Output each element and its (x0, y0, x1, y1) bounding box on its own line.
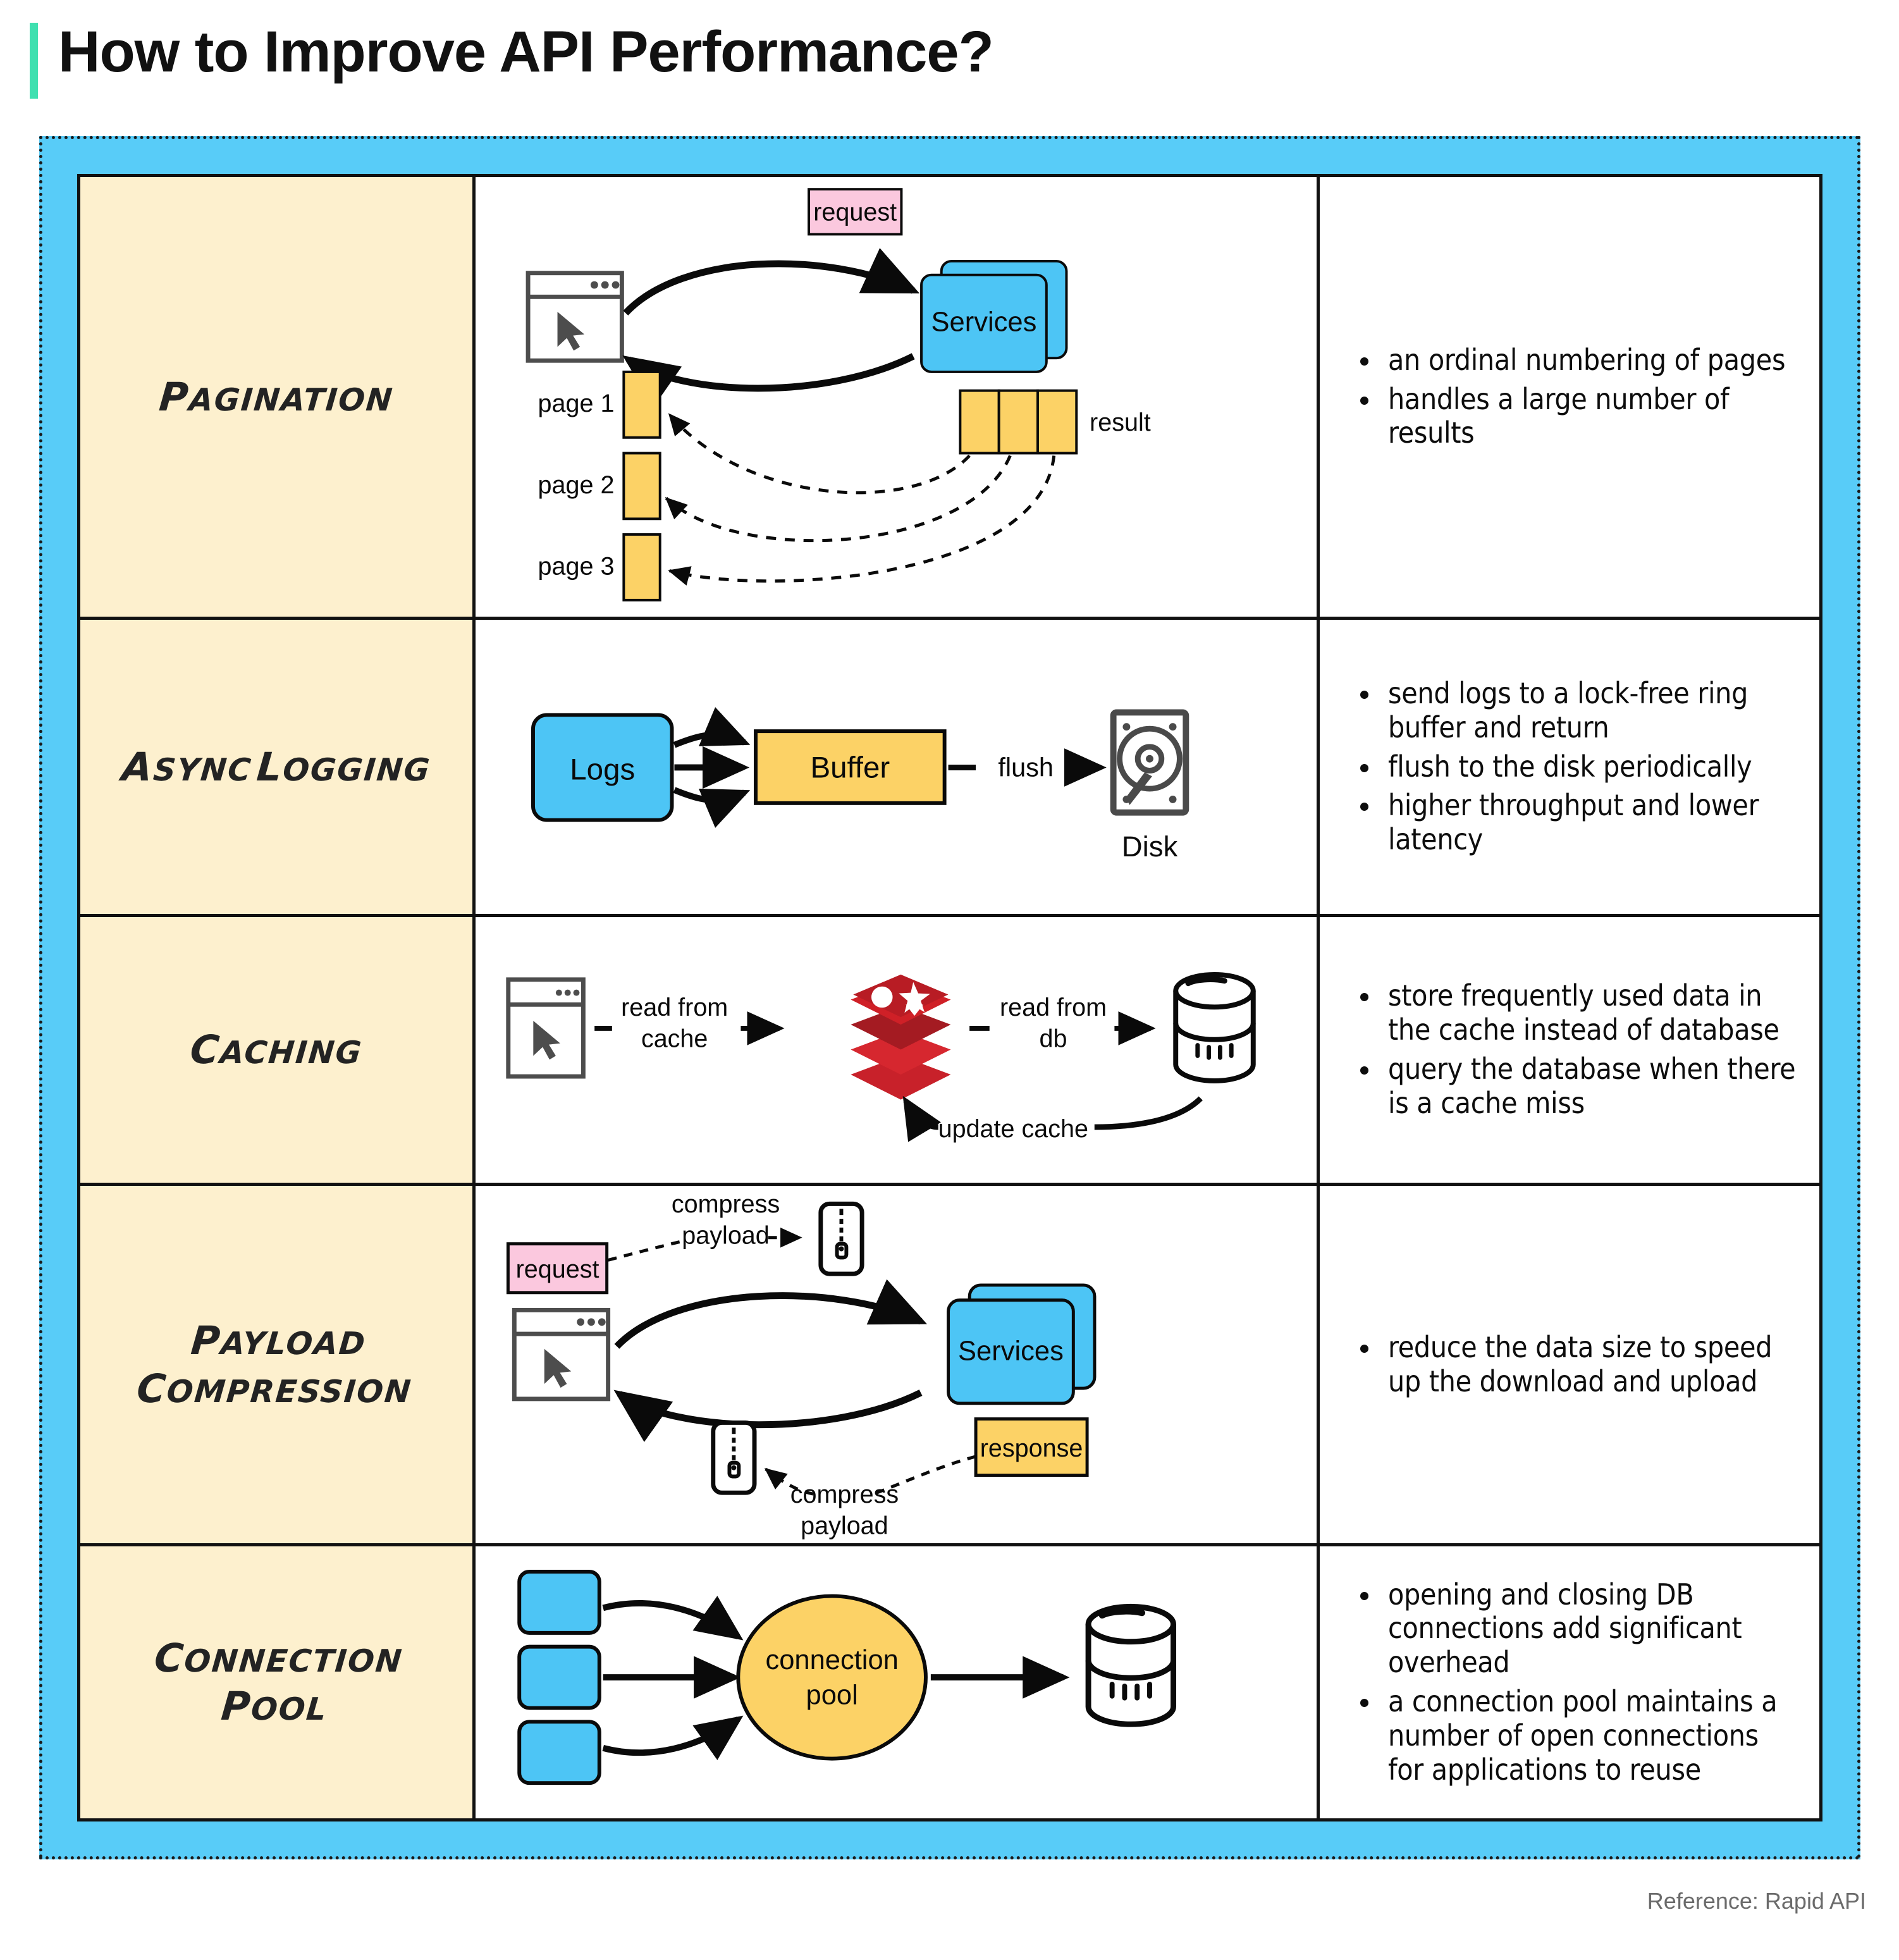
notes-list: reduce the data size to speed up the dow… (1355, 1331, 1798, 1399)
services-stack: Services (921, 261, 1066, 372)
table-row: PAGINATION request (80, 177, 1819, 620)
disk-label: Disk (1122, 830, 1178, 863)
row-label-cell-payload-compression: PAYLOAD COMPRESSION (80, 1186, 476, 1543)
caching-diagram: read from cache (476, 917, 1317, 1183)
row-label-text: CONNECTION POOL (148, 1634, 405, 1730)
payload-compression-diagram: compress payload request (476, 1186, 1317, 1543)
diagram-cell-async-logging: Logs Buffer flush (476, 620, 1320, 914)
note-item: store frequently used data in the cache … (1355, 979, 1798, 1047)
request-label: request (813, 199, 897, 226)
page-2-label: page 2 (538, 471, 615, 499)
connection-pool-label-line2: pool (806, 1680, 858, 1711)
response-arrow (619, 1393, 921, 1425)
client-box-1 (519, 1572, 599, 1633)
response-label: response (980, 1434, 1083, 1462)
zip-file-icon-top (821, 1204, 862, 1274)
request-arrow (625, 264, 913, 313)
infographic-page: How to Improve API Performance? PAGINATI… (0, 0, 1899, 1960)
browser-window-icon (508, 980, 584, 1076)
request-label: request (516, 1255, 599, 1283)
logs-label: Logs (570, 753, 635, 786)
compress-payload-top-line1: compress (672, 1190, 780, 1218)
diagram-cell-connection-pool: connection pool (476, 1546, 1320, 1818)
row-label-text: ASYNC LOGGING (120, 743, 433, 791)
update-cache-arrow (906, 1101, 938, 1128)
read-from-db-label-line2: db (1040, 1025, 1067, 1053)
diagram-cell-payload-compression: compress payload request (476, 1186, 1320, 1543)
result-to-page1-arrow (670, 414, 970, 493)
redis-icon (851, 975, 950, 1100)
connection-pool-diagram: connection pool (476, 1546, 1317, 1818)
client-box-2 (519, 1647, 599, 1708)
title-accent-bar (30, 23, 38, 99)
result-to-page2-arrow (667, 455, 1011, 540)
client-box-3 (519, 1722, 599, 1783)
table-row: CONNECTION POOL (80, 1546, 1819, 1818)
buffer-label: Buffer (810, 751, 890, 784)
notes-cell-payload-compression: reduce the data size to speed up the dow… (1320, 1186, 1819, 1543)
note-item: opening and closing DB connections add s… (1355, 1578, 1798, 1680)
header: How to Improve API Performance? (0, 0, 1899, 130)
services-stack: Services (949, 1285, 1095, 1403)
database-icon (1176, 975, 1253, 1081)
read-from-db-label-line1: read from (1000, 994, 1107, 1021)
page-bar-2 (624, 453, 660, 519)
notes-cell-pagination: an ordinal numbering of pages handles a … (1320, 177, 1819, 617)
technique-table: PAGINATION request (77, 174, 1822, 1821)
connection-pool-label-line1: connection (765, 1645, 898, 1675)
notes-list: send logs to a lock-free ring buffer and… (1355, 677, 1798, 857)
row-label-text: CACHING (188, 1026, 365, 1074)
table-row: CACHING (80, 917, 1819, 1186)
compress-payload-top-line2: payload (682, 1222, 770, 1250)
client1-to-pool-arrow (603, 1603, 739, 1637)
async-logging-diagram: Logs Buffer flush (476, 620, 1317, 914)
row-label-cell-pagination: PAGINATION (80, 177, 476, 617)
notes-list: an ordinal numbering of pages handles a … (1355, 343, 1798, 450)
request-arrow (617, 1296, 921, 1347)
notes-list: opening and closing DB connections add s… (1355, 1578, 1798, 1787)
note-item: higher throughput and lower latency (1355, 789, 1798, 857)
note-item: an ordinal numbering of pages (1355, 343, 1798, 378)
diagram-cell-pagination: request (476, 177, 1320, 617)
diagram-cell-caching: read from cache (476, 917, 1320, 1183)
notes-list: store frequently used data in the cache … (1355, 979, 1798, 1120)
response-arrow (628, 356, 913, 388)
read-from-cache-label-line1: read from (621, 994, 728, 1021)
disk-icon (1114, 712, 1186, 812)
table-row: ASYNC LOGGING Logs (80, 620, 1819, 917)
update-cache-line (1095, 1099, 1201, 1127)
compress-payload-bottom-line1: compress (790, 1481, 899, 1508)
notes-cell-connection-pool: opening and closing DB connections add s… (1320, 1546, 1819, 1818)
page-bar-1 (624, 372, 660, 438)
pagination-diagram: request (476, 177, 1317, 617)
row-label-cell-async-logging: ASYNC LOGGING (80, 620, 476, 914)
page-bar-3 (624, 534, 660, 600)
notes-cell-async-logging: send logs to a lock-free ring buffer and… (1320, 620, 1819, 914)
row-label-cell-caching: CACHING (80, 917, 476, 1183)
result-to-page3-arrow (670, 455, 1054, 581)
page-1-label: page 1 (538, 390, 615, 417)
note-item: reduce the data size to speed up the dow… (1355, 1331, 1798, 1399)
row-label-text: PAYLOAD COMPRESSION (135, 1317, 418, 1412)
note-item: handles a large number of results (1355, 383, 1798, 451)
row-label-cell-connection-pool: CONNECTION POOL (80, 1546, 476, 1818)
note-item: send logs to a lock-free ring buffer and… (1355, 677, 1798, 745)
client3-to-pool-arrow (603, 1719, 739, 1753)
result-label: result (1090, 409, 1151, 436)
read-from-cache-label-line2: cache (641, 1025, 708, 1053)
browser-window-icon (514, 1310, 608, 1398)
services-label: Services (931, 307, 1037, 338)
note-item: query the database when there is a cache… (1355, 1052, 1798, 1121)
page-3-label: page 3 (538, 552, 615, 580)
note-item: a connection pool maintains a number of … (1355, 1685, 1798, 1787)
flush-label: flush (998, 752, 1054, 782)
page-title: How to Improve API Performance? (58, 19, 993, 85)
reference-footer: Reference: Rapid API (1647, 1888, 1866, 1914)
database-icon (1088, 1606, 1173, 1724)
result-blocks (960, 391, 1076, 453)
update-cache-label: update cache (938, 1115, 1088, 1143)
services-label: Services (958, 1336, 1064, 1367)
zip-file-icon-bottom (713, 1422, 754, 1493)
notes-cell-caching: store frequently used data in the cache … (1320, 917, 1819, 1183)
request-dashed-line (608, 1242, 682, 1260)
logs-arrow-bottom (674, 790, 744, 800)
compress-payload-bottom-line2: payload (801, 1512, 888, 1539)
note-item: flush to the disk periodically (1355, 750, 1798, 784)
connection-pool-ellipse (738, 1596, 926, 1759)
row-label-text: PAGINATION (157, 373, 395, 421)
logs-arrow-top (674, 735, 744, 745)
table-row: PAYLOAD COMPRESSION compress (80, 1186, 1819, 1546)
browser-window-icon (528, 273, 622, 361)
